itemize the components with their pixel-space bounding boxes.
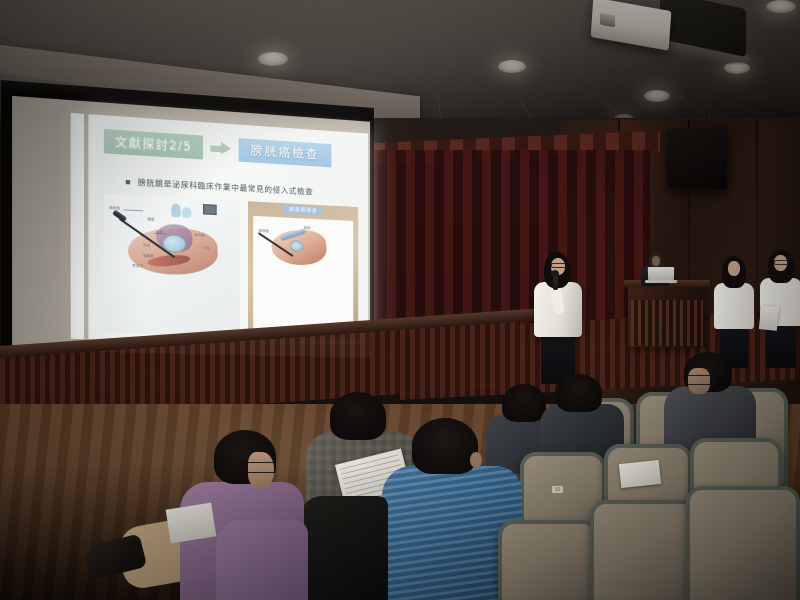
figure-label: 尿道 (143, 242, 150, 248)
audience-member-blue-polo-head (412, 418, 478, 474)
glasses-icon (551, 263, 567, 268)
figure-label: 膀胱鏡 (259, 227, 269, 233)
lectern-slats (631, 300, 703, 346)
seat-handout (619, 460, 661, 488)
seat-back-dark (300, 496, 388, 600)
anatomy-bladder-shape (290, 240, 303, 252)
figure-right-canvas: 膀胱鏡 膀胱 (253, 216, 354, 335)
team-member-1-torso (714, 283, 754, 329)
audience-member-rear-left-head (502, 384, 546, 422)
auditorium-seat (590, 500, 698, 600)
figure-label: 前列腺 (195, 232, 205, 238)
auditorium-seat (498, 520, 598, 600)
handout-paper (166, 503, 217, 544)
auditorium-seat (686, 486, 800, 600)
slide-topic-tag: 膀胱癌檢查 (238, 138, 331, 167)
team-member-1-face (728, 261, 740, 276)
glasses-icon (774, 260, 789, 265)
projected-slide: 文獻探討2/5 膀胱癌檢查 膀胱鏡是泌尿科臨床作業中最常見的侵入式檢查 (88, 114, 368, 346)
audience-member-rear-center-head (556, 374, 602, 412)
figure-label: 腹壁 (147, 216, 154, 222)
screen-light-strip (71, 113, 84, 339)
arrow-right-icon (210, 141, 231, 156)
wall-speaker-icon (667, 127, 727, 189)
figure-title-bar: 膀胱鏡檢查 (284, 205, 322, 215)
slide-header: 文獻探討2/5 膀胱癌檢查 (104, 129, 358, 169)
handout-paper (759, 305, 779, 331)
figure-label: 攝護腺 (143, 252, 154, 258)
figure-label: 尿道口 (132, 262, 143, 268)
cystoscopy-diagram-left: 膀胱鏡 腹壁 膀胱 前列腺 尿道 攝護腺 尿道口 子宮 (104, 194, 239, 337)
figure-label: 膀胱 (304, 225, 311, 230)
figure-label: 子宮 (203, 244, 210, 249)
auditorium-photo: 文獻探討2/5 膀胱癌檢查 膀胱鏡是泌尿科臨床作業中最常見的侵入式檢查 (0, 0, 800, 600)
glasses-icon (686, 375, 714, 385)
bullet-square-icon (126, 179, 130, 183)
slide-bullet-text: 膀胱鏡是泌尿科臨床作業中最常見的侵入式檢查 (138, 176, 313, 197)
screen-surface: 文獻探討2/5 膀胱癌檢查 膀胱鏡是泌尿科臨床作業中最常見的侵入式檢查 (12, 96, 370, 360)
laptop-base (645, 280, 677, 283)
audience-member-purple-shirt-arm (216, 520, 308, 600)
figure-label: 膀胱鏡 (109, 204, 120, 210)
monitor-icon (203, 204, 217, 215)
audience-member-grey-check-head (330, 392, 386, 440)
audience-member-blue-polo-ear (470, 452, 482, 468)
projector-lens-icon (600, 13, 615, 28)
glasses-icon (245, 462, 277, 473)
laptop-operator-face (652, 256, 660, 266)
seat-number-plate: 15 (552, 486, 563, 493)
slide-figures: 膀胱鏡 腹壁 膀胱 前列腺 尿道 攝護腺 尿道口 子宮 (104, 194, 358, 340)
clinician-figure-icon (182, 207, 192, 218)
clinician-figure-icon (171, 203, 181, 217)
slide-section-tag: 文獻探討2/5 (104, 129, 203, 159)
microphone-head-icon (551, 270, 559, 277)
cystoscopy-diagram-right: 膀胱鏡檢查 膀胱鏡 膀胱 (248, 201, 359, 339)
